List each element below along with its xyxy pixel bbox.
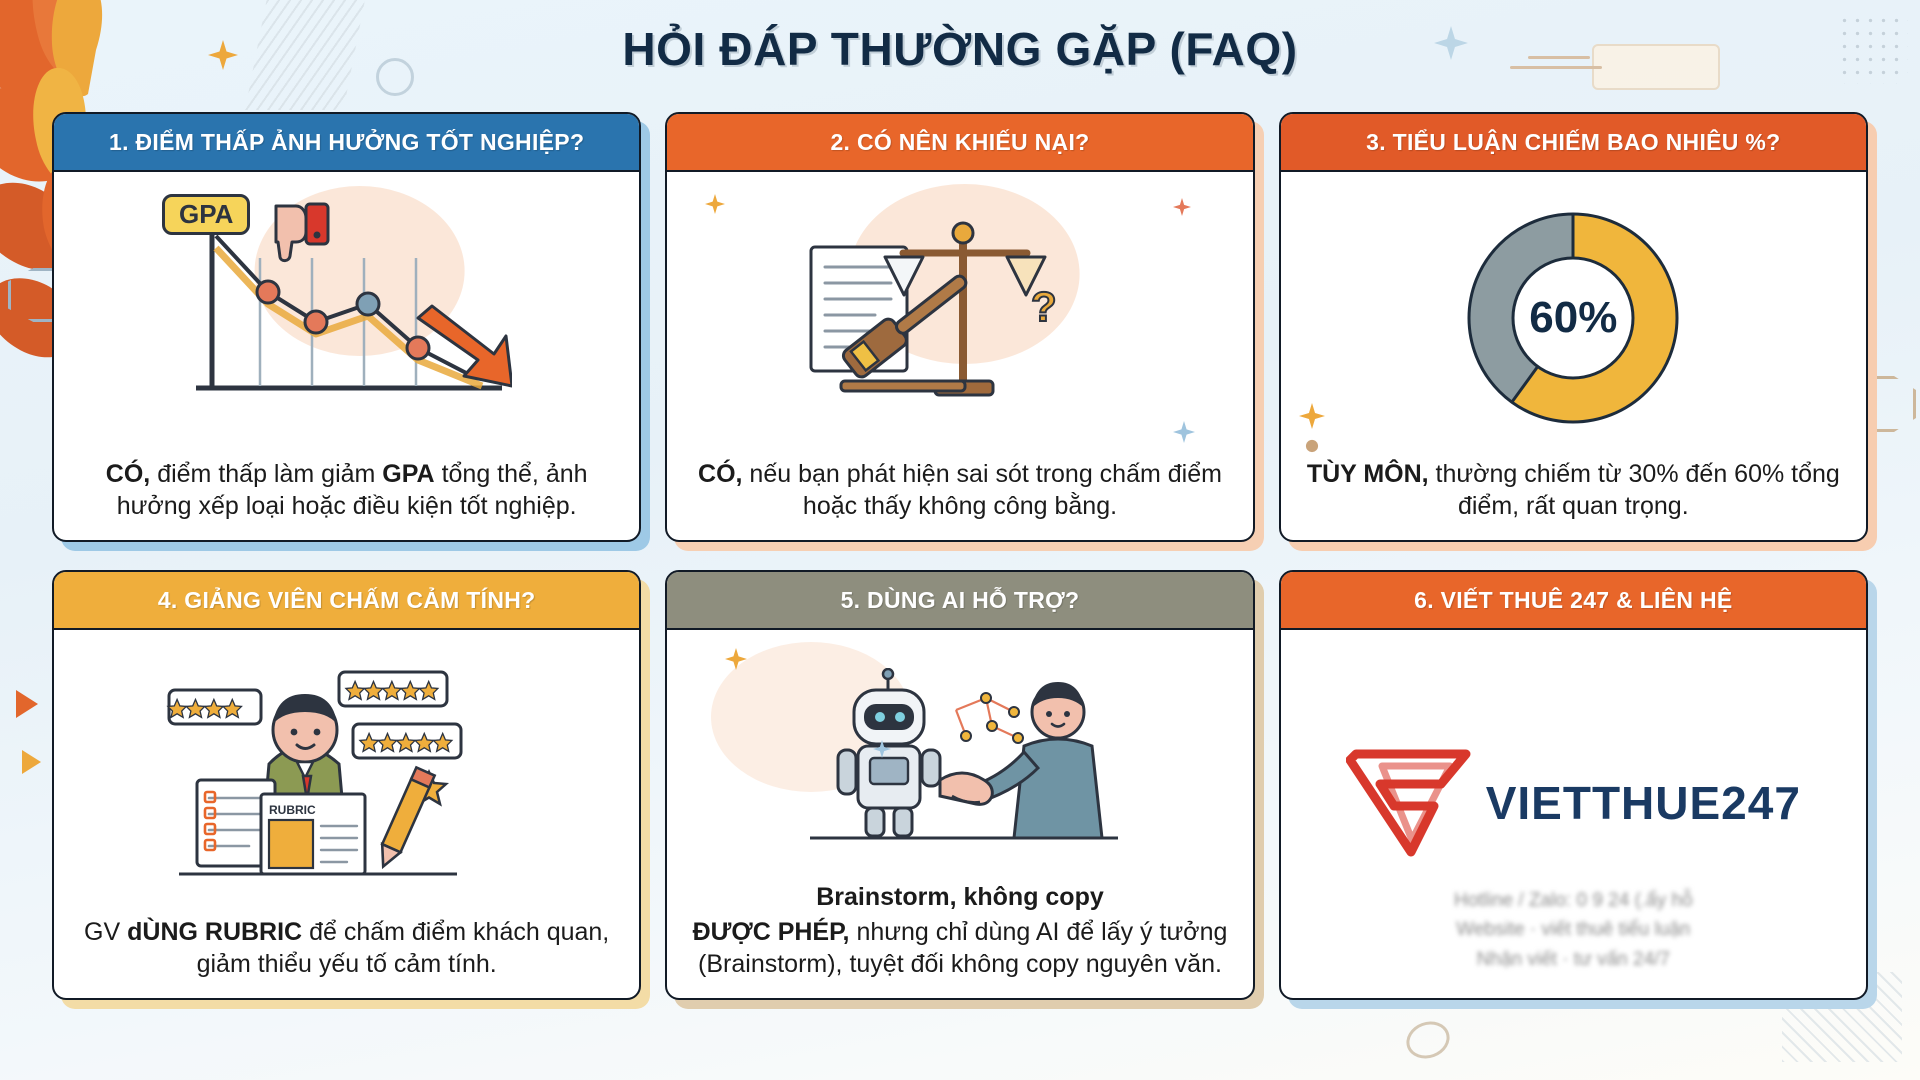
faq-card-6-answer [1281, 980, 1866, 998]
rubric-label: RUBRIC [269, 803, 316, 817]
faq-card-1-answer: CÓ, điểm thấp làm giảm GPA tổng thể, ảnh… [54, 459, 639, 540]
contact-info-blurred: Hotline / Zalo: 0 9 24 (.ẩy hỗ Website ·… [1281, 886, 1866, 974]
contact-line-3: Nhận viết · tư vấn 24/7 [1281, 945, 1866, 974]
faq-card-6-illustration: VIETTHUE247 Hotline / Zalo: 0 9 24 (.ẩy … [1281, 630, 1866, 980]
faq-card-2[interactable]: 2. CÓ NÊN KHIẾU NẠI? [665, 112, 1254, 542]
faq-card-3-illustration: 60% [1281, 172, 1866, 459]
faq-card-5-pre: Brainstorm, không copy [689, 882, 1230, 914]
faq-card-4-illustration: RUBRIC [54, 630, 639, 917]
faq-card-2-lead: CÓ, [698, 460, 742, 488]
faq-card-4-bold2: dÙNG RUBRIC [127, 918, 302, 946]
faq-card-5-answer: Brainstorm, không copyĐƯỢC PHÉP, nhưng c… [667, 882, 1252, 999]
page-title: HỎI ĐÁP THƯỜNG GẶP (FAQ) [0, 22, 1920, 76]
faq-card-grid: 1. ĐIỂM THẤP ẢNH HƯỞNG TỐT NGHIỆP? GPA [52, 112, 1868, 1000]
faq-card-3-answer: TÙY MÔN, thường chiếm từ 30% đến 60% tổn… [1281, 459, 1866, 540]
faq-card-2-header: 2. CÓ NÊN KHIẾU NẠI? [667, 114, 1252, 172]
faq-card-2-illustration: ? [667, 172, 1252, 459]
faq-card-3-header: 3. TIỂU LUẬN CHIẾM BAO NHIÊU %? [1281, 114, 1866, 172]
faq-card-4-lead: GV [84, 918, 127, 946]
faq-card-4-header: 4. GIẢNG VIÊN CHẤM CẢM TÍNH? [54, 572, 639, 630]
faq-card-3[interactable]: 3. TIỂU LUẬN CHIẾM BAO NHIÊU %? 60% TÙY … [1279, 112, 1868, 542]
faq-card-5-illustration [667, 630, 1252, 882]
faq-card-1-body: điểm thấp làm giảm [150, 460, 382, 488]
question-mark-icon: ? [1031, 283, 1057, 330]
faq-card-1-bold2: GPA [382, 460, 434, 488]
faq-card-6[interactable]: 6. VIẾT THUÊ 247 & LIÊN HỆ VIETTHUE247 H… [1279, 570, 1868, 1000]
vietthue247-logo-mark [1346, 744, 1476, 862]
triangle-marker-decoration-2 [22, 750, 41, 774]
faq-card-1-header: 1. ĐIỂM THẤP ẢNH HƯỞNG TỐT NGHIỆP? [54, 114, 639, 172]
donut-center-value: 60% [1458, 203, 1688, 433]
faq-card-6-header: 6. VIẾT THUÊ 247 & LIÊN HỆ [1281, 572, 1866, 630]
faq-card-3-body: thường chiếm từ 30% đến 60% tổng điểm, r… [1429, 460, 1840, 520]
faq-card-1-lead: CÓ, [106, 460, 150, 488]
triangle-marker-decoration-1 [16, 690, 38, 718]
gpa-badge: GPA [162, 194, 250, 235]
hexagon-bracket-decoration-right [1876, 376, 1916, 432]
faq-card-2-answer: CÓ, nếu bạn phát hiện sai sót trong chấm… [667, 459, 1252, 540]
vietthue247-logo-text: VIETTHUE247 [1486, 776, 1801, 830]
faq-card-4[interactable]: 4. GIẢNG VIÊN CHẤM CẢM TÍNH? [52, 570, 641, 1000]
circle-outline-decoration-bottom [1401, 1016, 1455, 1065]
contact-line-1: Hotline / Zalo: 0 9 24 (.ẩy hỗ [1281, 886, 1866, 915]
faq-card-1[interactable]: 1. ĐIỂM THẤP ẢNH HƯỞNG TỐT NGHIỆP? GPA [52, 112, 641, 542]
faq-card-3-lead: TÙY MÔN, [1307, 460, 1429, 488]
thumbs-down-icon [266, 198, 338, 270]
faq-card-4-answer: GV dÙNG RUBRIC để chấm điểm khách quan, … [54, 917, 639, 998]
vietthue247-logo[interactable]: VIETTHUE247 [1346, 744, 1801, 862]
faq-card-5-header: 5. DÙNG AI HỖ TRỢ? [667, 572, 1252, 630]
faq-card-5[interactable]: 5. DÙNG AI HỖ TRỢ? [665, 570, 1254, 1000]
faq-card-1-illustration: GPA [54, 172, 639, 459]
faq-card-5-lead: ĐƯỢC PHÉP, [693, 918, 850, 946]
faq-card-2-body: nếu bạn phát hiện sai sót trong chấm điể… [742, 460, 1221, 520]
donut-chart: 60% [1458, 203, 1688, 433]
hexagon-bracket-decoration-left [8, 268, 54, 322]
contact-line-2: Website · viết thuê tiểu luận [1281, 915, 1866, 944]
